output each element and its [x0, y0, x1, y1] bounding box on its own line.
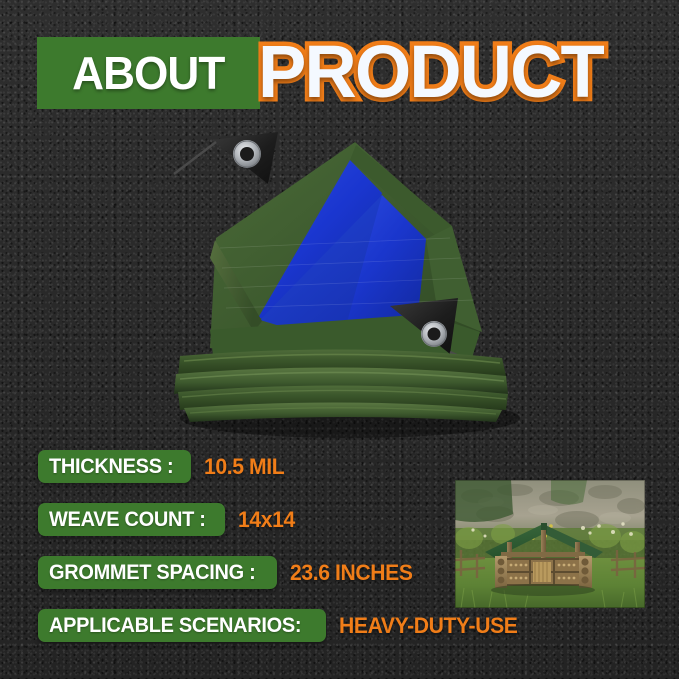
spec-value-thickness: 10.5 MIL: [204, 454, 284, 480]
spec-label-grommet-spacing: GROMMET SPACING :: [38, 556, 277, 589]
spec-row-weave-count: WEAVE COUNT : 14x14: [38, 503, 297, 536]
about-text: ABOUT: [72, 46, 224, 100]
spec-row-grommet-spacing: GROMMET SPACING : 23.6 INCHES: [38, 556, 418, 589]
spec-label-thickness: THICKNESS :: [38, 450, 191, 483]
about-label-block: ABOUT: [37, 37, 260, 109]
spec-label-applicable-scenarios-text: APPLICABLE SCENARIOS:: [49, 614, 301, 638]
spec-value-grommet-spacing: 23.6 INCHES: [290, 560, 413, 586]
product-photo-folded-tarp: [150, 118, 550, 440]
spec-row-applicable-scenarios: APPLICABLE SCENARIOS: HEAVY-DUTY-USE: [38, 609, 524, 642]
spec-label-grommet-spacing-text: GROMMET SPACING :: [49, 561, 255, 585]
product-text: PRODUCT: [258, 28, 603, 116]
spec-label-applicable-scenarios: APPLICABLE SCENARIOS:: [38, 609, 326, 642]
scenario-illustration: [455, 480, 645, 608]
spec-label-weave-count-text: WEAVE COUNT :: [49, 508, 206, 532]
scenario-photo-insect-hotel: [455, 480, 645, 608]
spec-row-thickness: THICKNESS : 10.5 MIL: [38, 450, 287, 483]
spec-value-weave-count: 14x14: [238, 507, 295, 533]
header-banner: ABOUT PRODUCT: [0, 30, 679, 118]
infographic-canvas: ABOUT PRODUCT: [0, 0, 679, 679]
tarp-illustration: [150, 118, 550, 440]
spec-label-weave-count: WEAVE COUNT :: [38, 503, 225, 536]
spec-value-applicable-scenarios: HEAVY-DUTY-USE: [339, 613, 517, 639]
spec-label-thickness-text: THICKNESS :: [49, 455, 173, 479]
